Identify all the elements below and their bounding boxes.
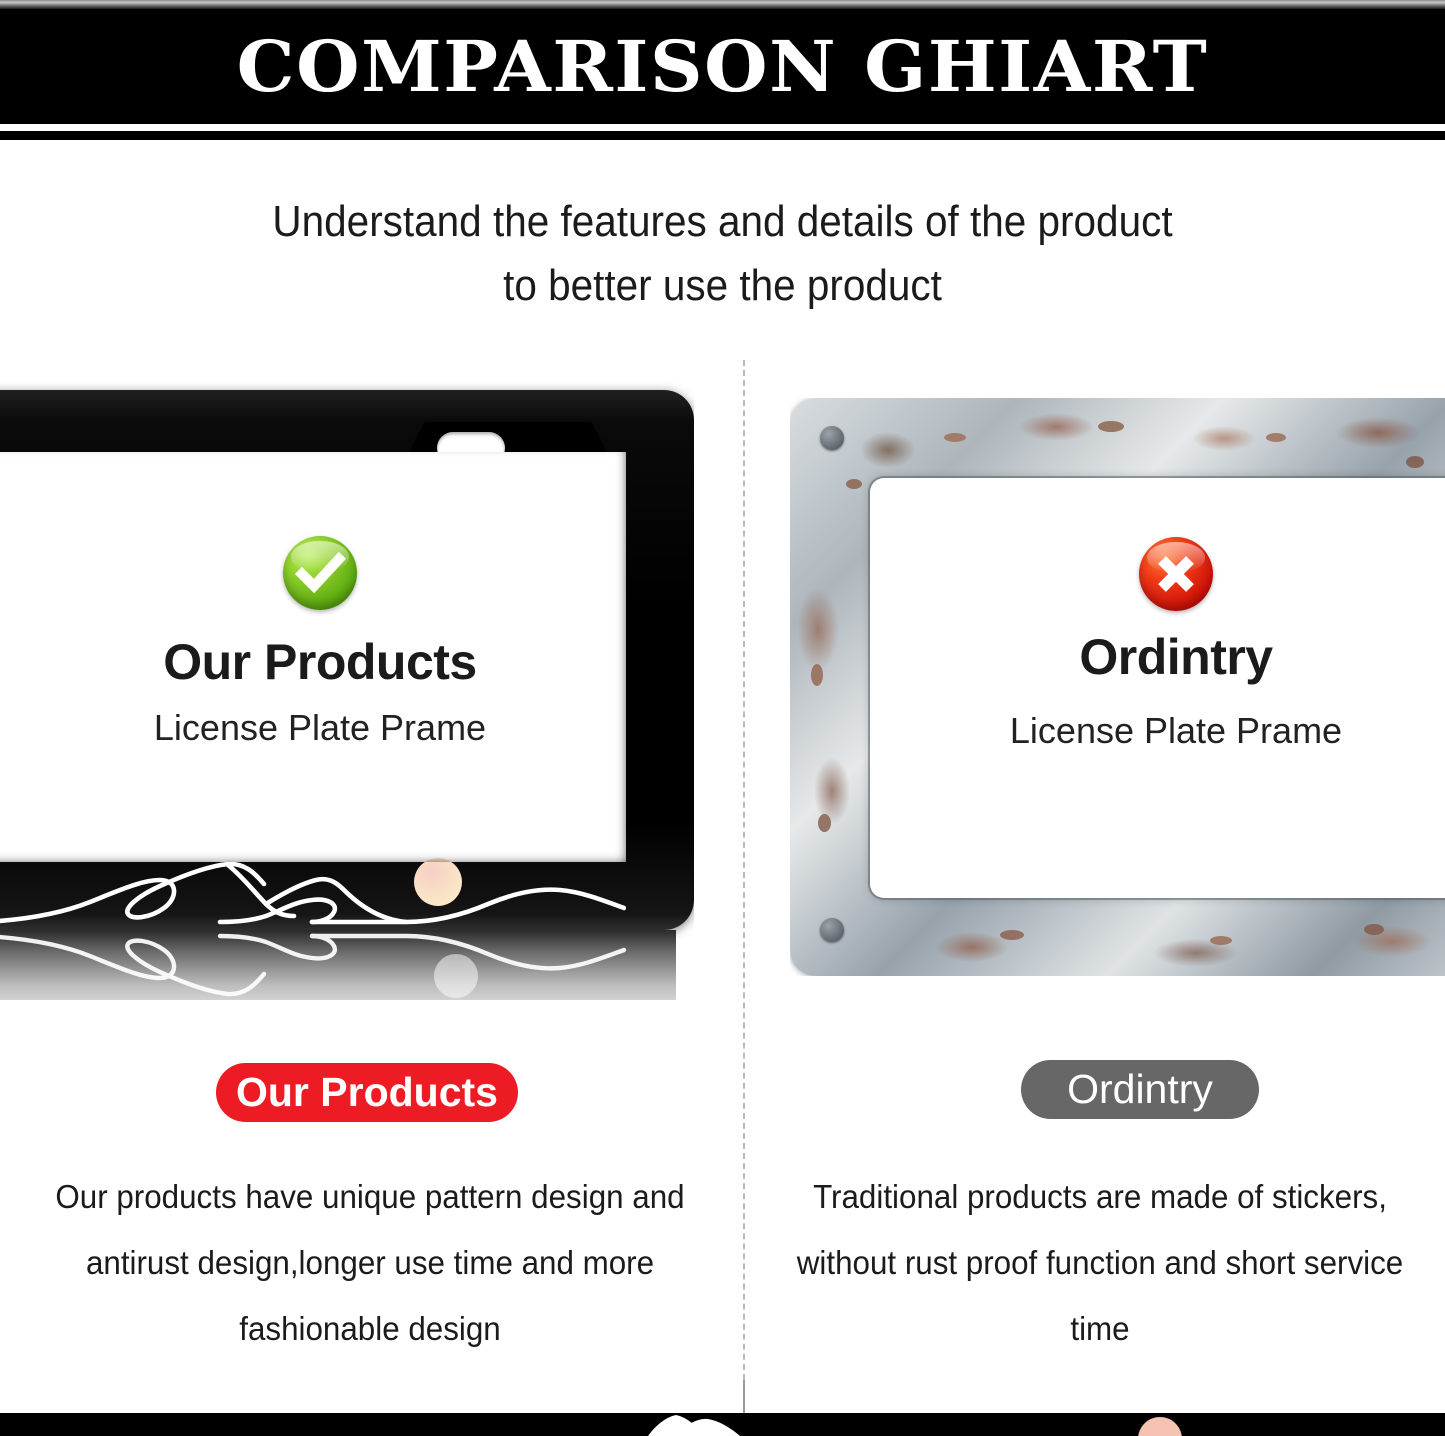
rust-speck: [1098, 421, 1124, 432]
rusty-license-plate-frame: [790, 398, 1445, 976]
rust-speck: [944, 433, 966, 442]
description-ordinary: Traditional products are made of sticker…: [777, 1164, 1423, 1362]
comparison-chart-page: COMPARISON GHIART Understand the feature…: [0, 0, 1445, 1436]
plate-name-ordinary: Ordintry: [900, 628, 1445, 686]
plate-subtitle-ordinary: License Plate Prame: [900, 710, 1445, 752]
subtitle-line-1: Understand the features and details of t…: [58, 190, 1387, 254]
mountain-line-art: [0, 858, 626, 930]
plate-subtitle-ours: License Plate Prame: [40, 707, 600, 749]
header-white-gap: [0, 124, 1445, 131]
check-circle-icon: [283, 536, 357, 610]
description-our-products: Our products have unique pattern design …: [47, 1164, 693, 1362]
rust-speck: [846, 479, 862, 489]
bottom-sun-circle: [1138, 1417, 1182, 1436]
reflection-svg: [0, 930, 676, 1000]
frame-reflection: [0, 930, 676, 1000]
rust-speck: [1406, 456, 1424, 468]
subtitle-block: Understand the features and details of t…: [58, 190, 1387, 318]
mountain-art-svg: [0, 858, 626, 930]
rust-speck: [818, 814, 831, 832]
pill-our-products: Our Products: [216, 1063, 518, 1122]
rust-speck: [1364, 924, 1384, 935]
check-glyph: [283, 536, 357, 610]
frame-bolt-top-left: [820, 426, 844, 450]
page-title: COMPARISON GHIART: [0, 9, 1445, 124]
x-circle-icon: [1139, 537, 1213, 611]
rust-speck: [1000, 930, 1024, 940]
sun-reflection: [434, 954, 478, 998]
plate-name-ours: Our Products: [40, 633, 600, 691]
bottom-divider-tail: [743, 1380, 745, 1413]
bottom-next-section-strip: [0, 1413, 1445, 1436]
pill-ordintry-label: Ordintry: [1067, 1066, 1213, 1113]
rusty-frame-body: [790, 398, 1445, 976]
rust-speck: [1266, 433, 1286, 442]
x-glyph: [1139, 537, 1213, 611]
frame-bolt-bottom-left: [820, 918, 844, 942]
header-rule: [0, 131, 1445, 140]
rust-speck: [811, 664, 823, 686]
header-gloss-strip: [0, 0, 1445, 9]
sun-circle: [414, 858, 462, 906]
column-divider: [743, 360, 745, 1410]
subtitle-line-2: to better use the product: [58, 254, 1387, 318]
bottom-mountain-peaks: [0, 1413, 1445, 1436]
pill-ordintry: Ordintry: [1021, 1060, 1259, 1119]
pill-our-products-label: Our Products: [236, 1069, 498, 1116]
rust-speck: [1210, 936, 1232, 945]
